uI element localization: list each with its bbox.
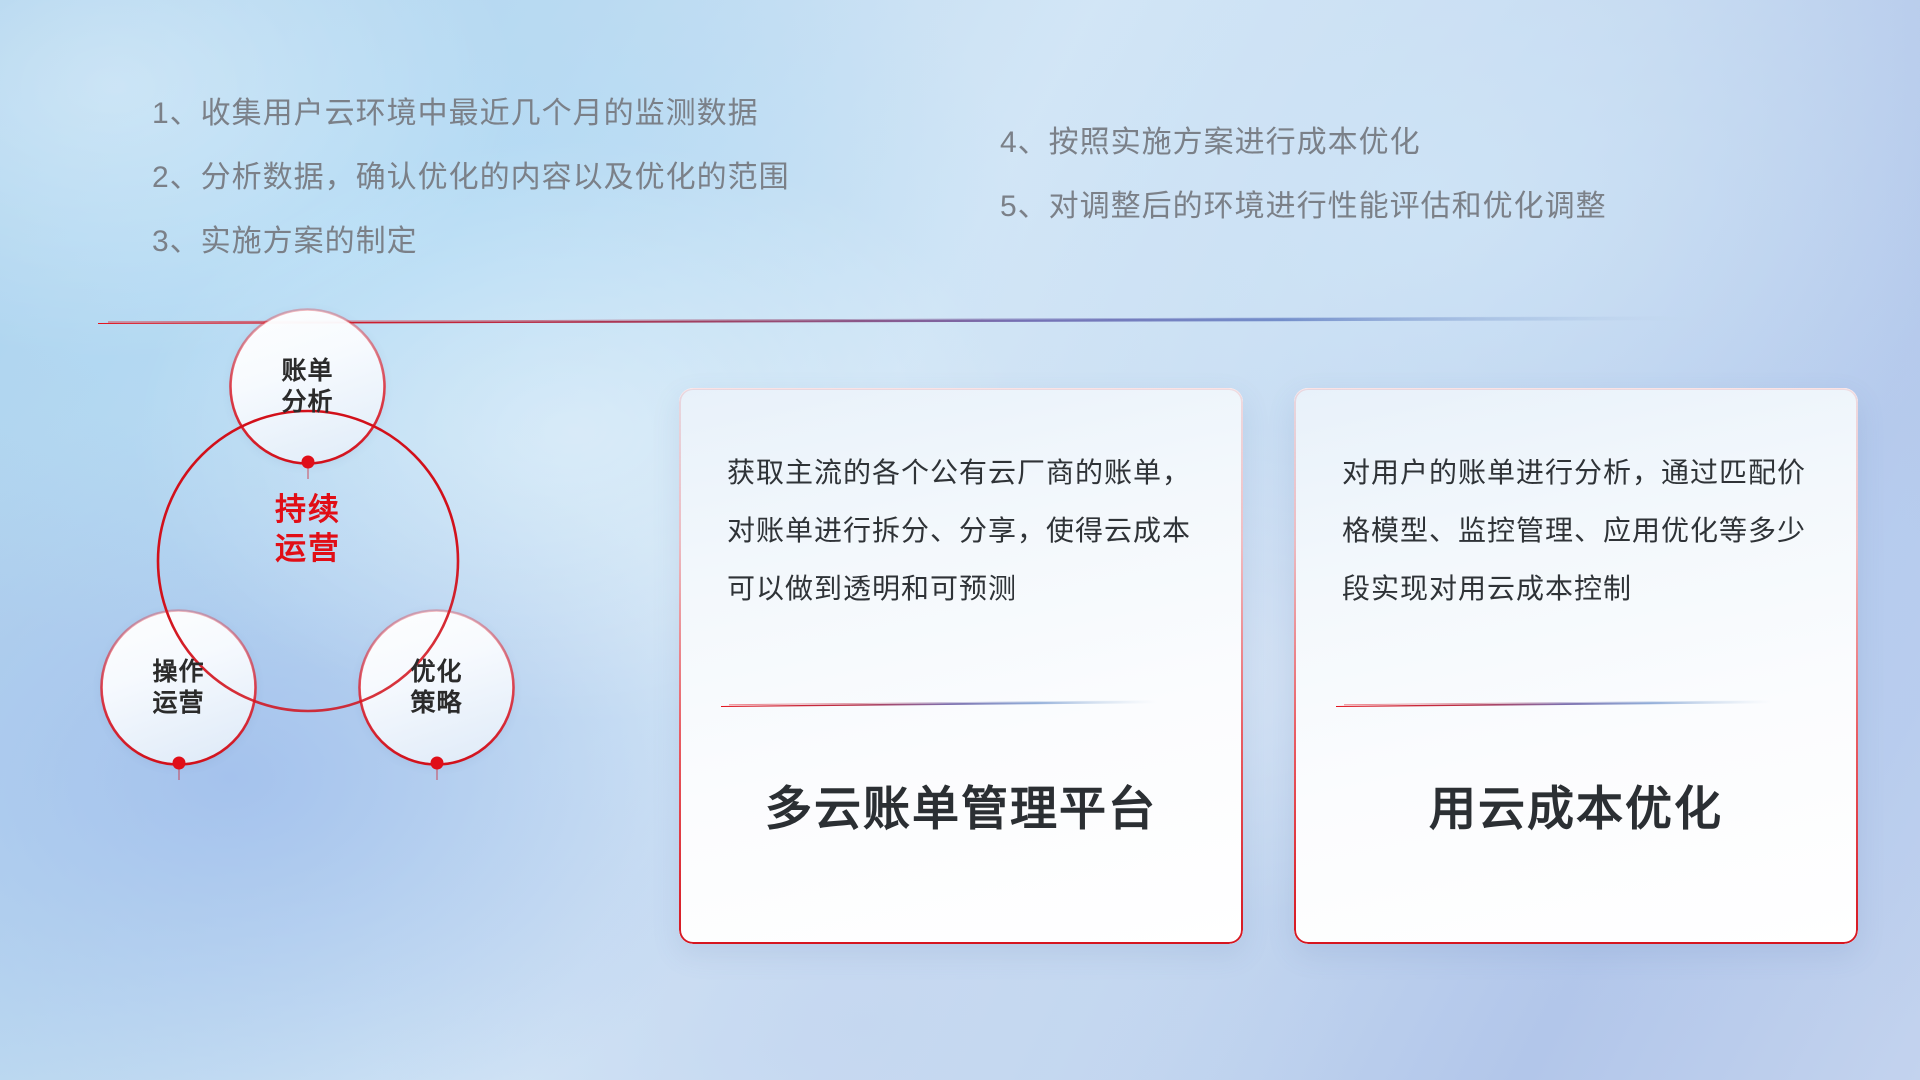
feature-card-cost-optimization[interactable]: 对用户的账单进行分析，通过匹配价格模型、监控管理、应用优化等多少段实现对用云成本… [1294, 388, 1858, 944]
feature-card-multicloud-billing[interactable]: 获取主流的各个公有云厂商的账单，对账单进行拆分、分享，使得云成本可以做到透明和可… [679, 388, 1243, 944]
venn-lobe-top-line2: 分析 [281, 388, 333, 416]
step-item-2: 2、分析数据，确认优化的内容以及优化的范围 [152, 163, 790, 193]
venn-lobe-left-label: 操作 运营 [152, 657, 204, 718]
venn-lobe-top-label: 账单 分析 [281, 356, 333, 417]
step-item-4: 4、按照实施方案进行成本优化 [1000, 128, 1607, 158]
venn-center-label: 持续 运营 [243, 491, 373, 569]
card-1-body-text: 获取主流的各个公有云厂商的账单，对账单进行拆分、分享，使得云成本可以做到透明和可… [727, 444, 1203, 619]
venn-diagram: 账单 分析 操作 运营 优化 策略 持续 运营 [88, 296, 558, 796]
venn-lobe-top-line1: 账单 [281, 357, 333, 385]
card-1-accent-rule [721, 698, 1157, 707]
step-item-3: 3、实施方案的制定 [152, 227, 790, 257]
card-2-body-text: 对用户的账单进行分析，通过匹配价格模型、监控管理、应用优化等多少段实现对用云成本… [1342, 444, 1818, 619]
venn-lobe-left-line1: 操作 [152, 658, 204, 686]
steps-left-column: 1、收集用户云环境中最近几个月的监测数据 2、分析数据，确认优化的内容以及优化的… [152, 99, 790, 257]
venn-lobe-billing-analysis[interactable]: 账单 分析 [231, 310, 384, 463]
card-1-title: 多云账单管理平台 [679, 770, 1243, 839]
step-item-5: 5、对调整后的环境进行性能评估和优化调整 [1000, 192, 1607, 222]
venn-center-line1: 持续 [275, 492, 341, 527]
steps-right-column: 4、按照实施方案进行成本优化 5、对调整后的环境进行性能评估和优化调整 [1000, 128, 1607, 222]
venn-lobe-right-label: 优化 策略 [410, 657, 462, 718]
slide-canvas: 1、收集用户云环境中最近几个月的监测数据 2、分析数据，确认优化的内容以及优化的… [0, 0, 1920, 1080]
card-2-accent-rule [1336, 698, 1772, 707]
card-2-title: 用云成本优化 [1294, 770, 1858, 839]
venn-lobe-right-line2: 策略 [410, 689, 462, 717]
venn-center-line2: 运营 [275, 531, 341, 566]
venn-lobe-operations[interactable]: 操作 运营 [102, 611, 255, 764]
venn-lobe-right-line1: 优化 [410, 658, 462, 686]
step-item-1: 1、收集用户云环境中最近几个月的监测数据 [152, 99, 790, 129]
venn-lobe-left-line2: 运营 [152, 689, 204, 717]
venn-lobe-optimization-strategy[interactable]: 优化 策略 [360, 611, 513, 764]
